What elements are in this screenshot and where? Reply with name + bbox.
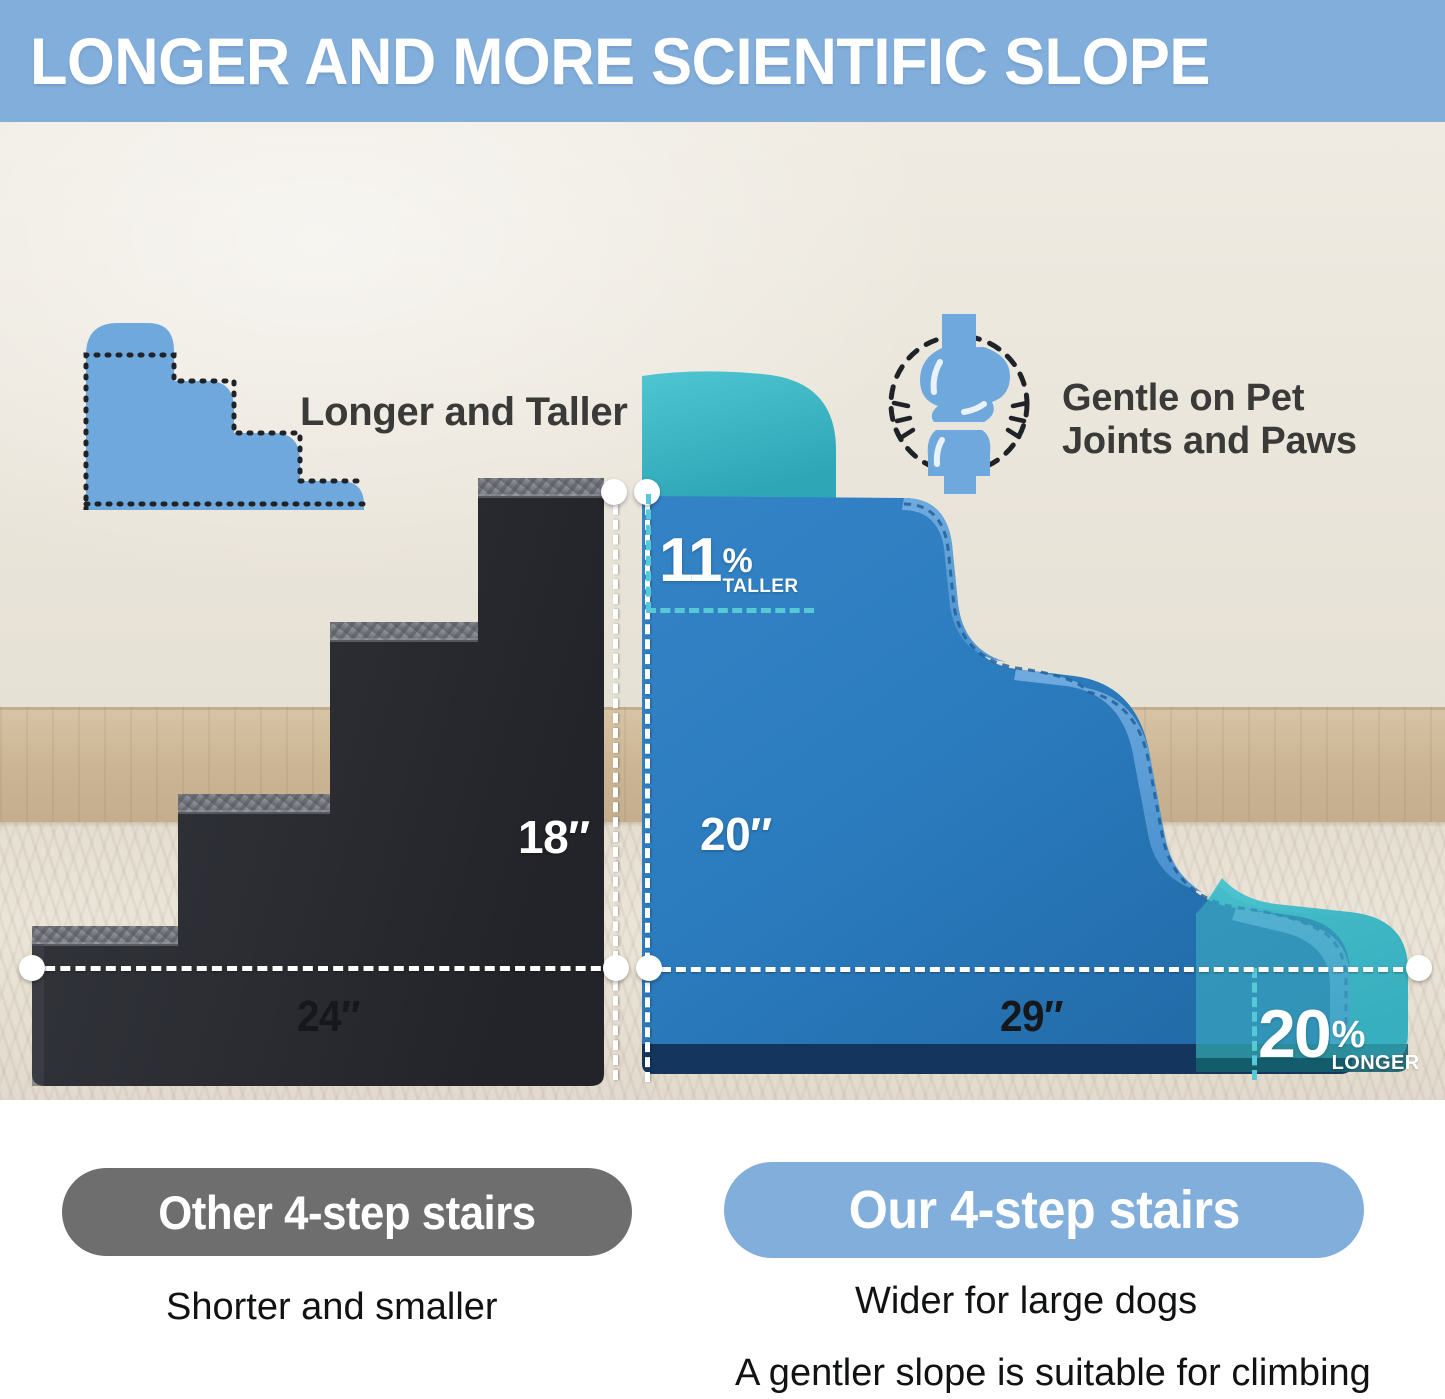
pill-other-stairs: Other 4-step stairs [62, 1168, 632, 1256]
other-width-right-marker [603, 955, 629, 981]
badge-11-percent-taller: 11%TALLER [659, 525, 798, 596]
our-height-label: 20″ [700, 807, 772, 861]
caption-other-stairs: Shorter and smaller [166, 1286, 498, 1329]
taller-region-left-line [646, 494, 651, 612]
taller-number: 11 [659, 525, 721, 596]
our-width-label: 29″ [1000, 992, 1063, 1042]
other-height-top-marker [601, 479, 627, 505]
taller-word: TALLER [723, 577, 799, 596]
other-width-left-marker [19, 955, 45, 981]
other-width-label: 24″ [297, 992, 360, 1042]
other-width-dimension-line [30, 966, 616, 971]
pill-our-stairs: Our 4-step stairs [724, 1162, 1364, 1258]
our-width-dimension-line [646, 967, 1418, 972]
taller-percent-symbol: % [723, 546, 799, 577]
header-banner: LONGER AND MORE SCIENTIFIC SLOPE [0, 0, 1445, 122]
pill-ours-label: Our 4-step stairs [848, 1179, 1239, 1241]
taller-region-bottom-line [646, 608, 814, 613]
other-height-dimension-line [613, 490, 618, 1080]
our-width-right-marker [1406, 955, 1432, 981]
caption-our-stairs-line-2: A gentler slope is suitable for climbing [735, 1352, 1371, 1395]
product-comparison-photo: Longer and Taller [0, 122, 1445, 1100]
longer-word: LONGER [1332, 1053, 1420, 1073]
caption-our-stairs-line-1: Wider for large dogs [855, 1280, 1197, 1323]
comparison-captions: Other 4-step stairs Our 4-step stairs Sh… [0, 1100, 1445, 1399]
our-width-left-marker [636, 955, 662, 981]
feature-label-longer-taller: Longer and Taller [300, 390, 628, 435]
badge-20-percent-longer: 20%LONGER [1258, 995, 1420, 1073]
page-title: LONGER AND MORE SCIENTIFIC SLOPE [30, 23, 1210, 99]
other-height-label: 18″ [518, 810, 590, 864]
longer-region-left-line [1252, 968, 1257, 1080]
longer-percent-symbol: % [1332, 1018, 1420, 1053]
our-stairs-product [636, 358, 1436, 1098]
pill-other-label: Other 4-step stairs [158, 1185, 535, 1240]
longer-number: 20 [1258, 995, 1330, 1073]
